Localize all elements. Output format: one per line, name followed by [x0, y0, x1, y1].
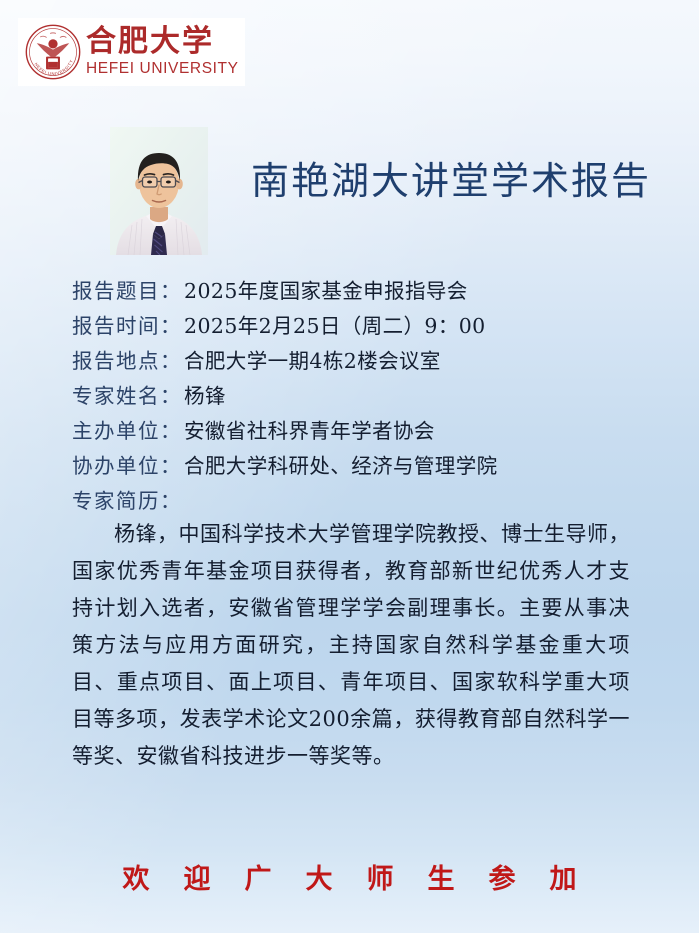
info-row-speaker-bio-label: 专家简历： — [72, 484, 672, 519]
info-label: 专家姓名： — [72, 379, 182, 414]
speaker-portrait-photo — [110, 127, 208, 255]
info-row-location: 报告地点： 合肥大学一期4栋2楼会议室 — [72, 344, 672, 379]
speaker-bio-paragraph: 杨锋，中国科学技术大学管理学院教授、博士生导师，国家优秀青年基金项目获得者，教育… — [72, 516, 630, 775]
info-label: 报告题目： — [72, 274, 182, 309]
hefei-university-seal-icon: HEFEI UNIVERSITY — [24, 23, 82, 81]
logo-name-en: HEFEI UNIVERSITY — [86, 61, 239, 77]
info-value: 安徽省社科界青年学者协会 — [184, 414, 435, 449]
welcome-banner: 欢迎广大师生参加 — [0, 857, 699, 896]
info-row-organizer: 主办单位： 安徽省社科界青年学者协会 — [72, 414, 672, 449]
info-value: 杨锋 — [184, 379, 226, 414]
info-label: 报告地点： — [72, 344, 182, 379]
info-value: 合肥大学科研处、经济与管理学院 — [184, 449, 498, 484]
info-label: 专家简历： — [72, 484, 182, 519]
event-info-list: 报告题目： 2025年度国家基金申报指导会 报告时间： 2025年2月25日（周… — [72, 274, 672, 519]
info-row-speaker-name: 专家姓名： 杨锋 — [72, 379, 672, 414]
info-row-topic: 报告题目： 2025年度国家基金申报指导会 — [72, 274, 672, 309]
info-row-co-organizer: 协办单位： 合肥大学科研处、经济与管理学院 — [72, 449, 672, 484]
info-row-time: 报告时间： 2025年2月25日（周二）9：00 — [72, 309, 672, 344]
info-value: 合肥大学一期4栋2楼会议室 — [184, 344, 441, 379]
info-value: 2025年2月25日（周二）9：00 — [184, 309, 486, 344]
info-label: 协办单位： — [72, 449, 182, 484]
page-title: 南艳湖大讲堂学术报告 — [251, 150, 651, 205]
university-logo: HEFEI UNIVERSITY 合肥大学 HEFEI UNIVERSITY — [18, 18, 245, 86]
poster-page: HEFEI UNIVERSITY 合肥大学 HEFEI UNIVERSITY — [0, 0, 699, 933]
info-label: 报告时间： — [72, 309, 182, 344]
info-label: 主办单位： — [72, 414, 182, 449]
logo-name-cn: 合肥大学 — [86, 27, 239, 57]
info-value: 2025年度国家基金申报指导会 — [184, 274, 468, 309]
logo-wordmark: 合肥大学 HEFEI UNIVERSITY — [86, 27, 239, 77]
